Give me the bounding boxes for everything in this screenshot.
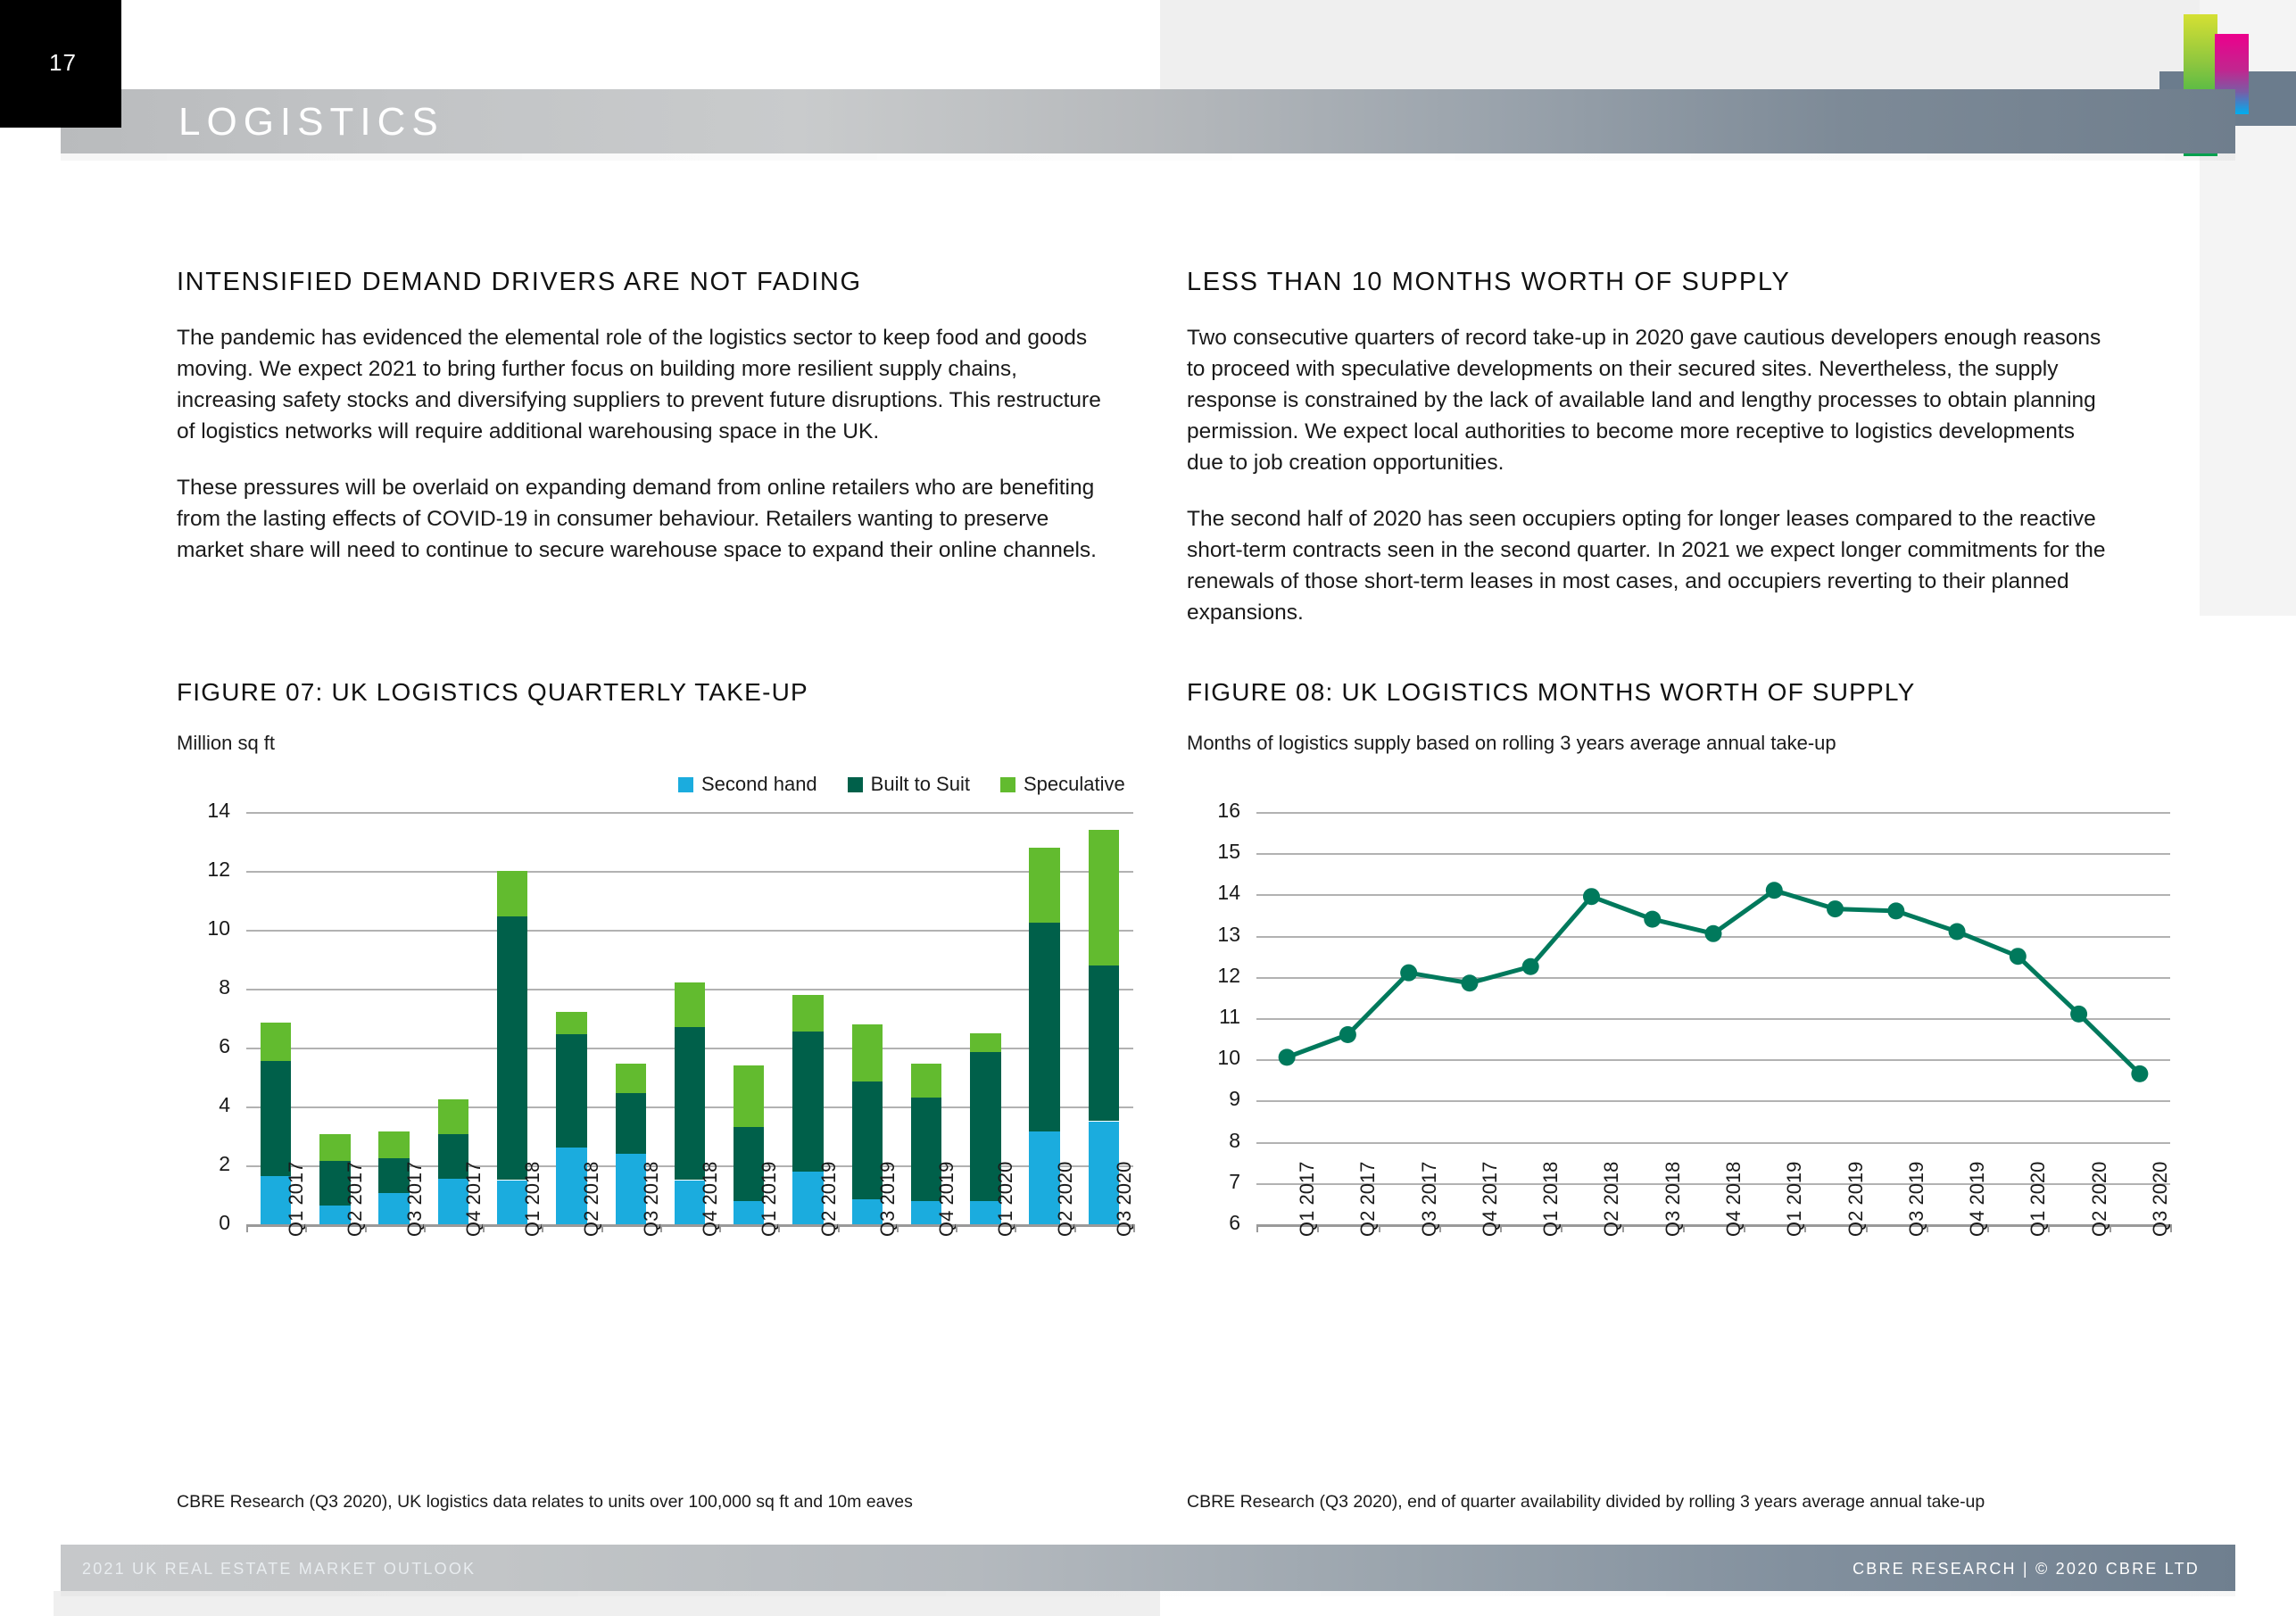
- line-series: [1187, 803, 2177, 1374]
- x-axis-tick: [1622, 1224, 1624, 1232]
- y-axis-tick-label: 14: [177, 799, 230, 823]
- data-point-marker: [1827, 900, 1844, 917]
- x-axis-label: Q2 2018: [580, 1162, 603, 1237]
- bar-segment: [497, 916, 527, 1180]
- bar-segment: [792, 995, 823, 1032]
- x-axis-tick: [542, 1224, 543, 1232]
- x-axis-tick: [1317, 1224, 1319, 1232]
- figure-08-subtitle: Months of logistics supply based on roll…: [1187, 732, 2168, 755]
- data-point-marker: [1705, 925, 1722, 942]
- x-axis-label: Q3 2019: [1905, 1162, 1928, 1237]
- bar-segment: [497, 871, 527, 916]
- figure-08-block: FIGURE 08: UK LOGISTICS MONTHS WORTH OF …: [1187, 678, 2168, 764]
- x-axis-tick: [956, 1224, 957, 1232]
- bar-segment: [852, 1024, 883, 1081]
- bar-segment: [378, 1131, 409, 1158]
- bar-segment: [1089, 830, 1119, 965]
- data-point-marker: [1887, 902, 1904, 919]
- bar-segment: [616, 1064, 646, 1093]
- x-axis-label: Q2 2020: [2088, 1162, 2111, 1237]
- data-point-marker: [2131, 1065, 2148, 1082]
- figure-07-chart: 02468101214Q1 2017Q2 2017Q3 2017Q4 2017Q…: [177, 803, 1140, 1374]
- x-axis-tick: [897, 1224, 899, 1232]
- legend-item-speculative: Speculative: [1000, 773, 1125, 796]
- data-point-marker: [1766, 882, 1783, 899]
- legend-item-built-to-suit: Built to Suit: [848, 773, 970, 796]
- x-axis-tick: [719, 1224, 721, 1232]
- legend-swatch-built-to-suit-icon: [848, 777, 863, 792]
- x-axis-label: Q4 2017: [1479, 1162, 1502, 1237]
- x-axis-label: Q4 2017: [462, 1162, 485, 1237]
- bar-segment: [319, 1134, 350, 1161]
- bar-segment: [261, 1023, 291, 1061]
- x-axis-tick: [838, 1224, 840, 1232]
- data-point-marker: [2070, 1006, 2087, 1023]
- x-axis-label: Q1 2020: [994, 1162, 1017, 1237]
- x-axis-label: Q1 2018: [1539, 1162, 1562, 1237]
- right-column-heading: LESS THAN 10 MONTHS WORTH OF SUPPLY: [1187, 268, 2115, 297]
- page-number: 17: [49, 49, 77, 77]
- x-axis-tick: [1866, 1224, 1868, 1232]
- top-right-grey-panel: [1160, 0, 2296, 101]
- x-axis-label: Q4 2019: [1966, 1162, 1989, 1237]
- figure-08-chart: 678910111213141516Q1 2017Q2 2017Q3 2017Q…: [1187, 803, 2177, 1374]
- figure-07-legend: Second hand Built to Suit Speculative: [678, 773, 1125, 796]
- x-axis-label: Q3 2018: [640, 1162, 663, 1237]
- y-axis-tick-label: 4: [177, 1093, 230, 1117]
- section-header-shadow: [61, 153, 2235, 161]
- legend-item-second-hand: Second hand: [678, 773, 817, 796]
- data-point-marker: [1400, 965, 1417, 982]
- bar-segment: [675, 1027, 705, 1181]
- y-axis-tick-label: 10: [177, 916, 230, 941]
- data-point-marker: [2010, 948, 2027, 965]
- bar-segment: [261, 1061, 291, 1176]
- page-footer: 2021 UK REAL ESTATE MARKET OUTLOOK CBRE …: [61, 1545, 2235, 1591]
- x-axis-label: Q3 2017: [403, 1162, 427, 1237]
- figure-07-title: FIGURE 07: UK LOGISTICS QUARTERLY TAKE-U…: [177, 678, 1158, 707]
- x-axis-label: Q1 2020: [2027, 1162, 2050, 1237]
- x-axis-tick: [1683, 1224, 1685, 1232]
- left-column: INTENSIFIED DEMAND DRIVERS ARE NOT FADIN…: [177, 268, 1105, 591]
- left-column-heading: INTENSIFIED DEMAND DRIVERS ARE NOT FADIN…: [177, 268, 1105, 297]
- bar-segment: [1029, 923, 1059, 1131]
- y-axis-tick-label: 2: [177, 1152, 230, 1176]
- gridline: [246, 871, 1133, 873]
- x-axis-tick: [1561, 1224, 1562, 1232]
- data-point-marker: [1339, 1026, 1356, 1043]
- bar-segment: [1029, 848, 1059, 923]
- bar-segment: [792, 1032, 823, 1172]
- x-axis-tick: [1987, 1224, 1989, 1232]
- x-axis-label: Q3 2019: [876, 1162, 899, 1237]
- y-axis-tick-label: 0: [177, 1211, 230, 1235]
- x-axis-label: Q1 2019: [1783, 1162, 1806, 1237]
- figure-07-subtitle: Million sq ft: [177, 732, 1158, 755]
- figure-08-title: FIGURE 08: UK LOGISTICS MONTHS WORTH OF …: [1187, 678, 2168, 707]
- left-column-paragraph-1: The pandemic has evidenced the elemental…: [177, 322, 1105, 447]
- x-axis-label: Q3 2020: [2149, 1162, 2172, 1237]
- right-column: LESS THAN 10 MONTHS WORTH OF SUPPLY Two …: [1187, 268, 2115, 653]
- legend-label-built-to-suit: Built to Suit: [871, 773, 970, 796]
- footer-left-label: 2021 UK REAL ESTATE MARKET OUTLOOK: [82, 1560, 476, 1579]
- x-axis-label: Q3 2018: [1662, 1162, 1685, 1237]
- x-axis-tick: [1804, 1224, 1806, 1232]
- figure-07-source: CBRE Research (Q3 2020), UK logistics da…: [177, 1492, 1149, 1512]
- data-point-marker: [1644, 911, 1661, 928]
- x-axis-tick: [1133, 1224, 1135, 1232]
- bar-segment: [556, 1034, 586, 1148]
- x-axis-tick: [1439, 1224, 1441, 1232]
- legend-swatch-speculative-icon: [1000, 777, 1015, 792]
- x-axis-label: Q2 2017: [1356, 1162, 1380, 1237]
- legend-swatch-second-hand-icon: [678, 777, 693, 792]
- x-axis-label: Q3 2020: [1113, 1162, 1136, 1237]
- y-axis-tick-label: 8: [177, 975, 230, 999]
- x-axis-label: Q1 2019: [758, 1162, 781, 1237]
- x-axis-tick: [1379, 1224, 1380, 1232]
- x-axis-label: Q4 2018: [1722, 1162, 1745, 1237]
- bar-segment: [734, 1065, 764, 1127]
- bar-segment: [556, 1012, 586, 1034]
- bar-segment: [438, 1099, 468, 1135]
- footer-right-label: CBRE RESEARCH | © 2020 CBRE LTD: [1853, 1560, 2200, 1579]
- document-page: LOGISTICS 17 INTENSIFIED DEMAND DRIVERS …: [0, 0, 2296, 1616]
- x-axis-label: Q1 2017: [285, 1162, 308, 1237]
- y-axis-tick-label: 12: [177, 858, 230, 882]
- x-axis-label: Q2 2017: [344, 1162, 367, 1237]
- x-axis-tick: [305, 1224, 307, 1232]
- x-axis-tick: [424, 1224, 426, 1232]
- x-axis-label: Q1 2017: [1296, 1162, 1319, 1237]
- x-axis-tick: [1500, 1224, 1502, 1232]
- left-column-paragraph-2: These pressures will be overlaid on expa…: [177, 472, 1105, 566]
- figure-07-block: FIGURE 07: UK LOGISTICS QUARTERLY TAKE-U…: [177, 678, 1158, 764]
- right-column-paragraph-1: Two consecutive quarters of record take-…: [1187, 322, 2115, 478]
- data-point-marker: [1583, 888, 1600, 905]
- x-axis-tick: [1744, 1224, 1745, 1232]
- footer-shadow: [61, 1591, 2235, 1596]
- x-axis-tick: [1074, 1224, 1076, 1232]
- x-axis-label: Q2 2019: [817, 1162, 841, 1237]
- x-axis-tick: [483, 1224, 485, 1232]
- x-axis-tick: [365, 1224, 367, 1232]
- x-axis-tick: [1256, 1224, 1258, 1232]
- y-axis-tick-label: 6: [177, 1034, 230, 1058]
- bar-segment: [911, 1064, 941, 1098]
- bar-segment: [616, 1093, 646, 1154]
- legend-label-second-hand: Second hand: [701, 773, 817, 796]
- x-axis-tick: [778, 1224, 780, 1232]
- x-axis-label: Q2 2018: [1600, 1162, 1623, 1237]
- data-point-marker: [1949, 923, 1966, 940]
- right-column-paragraph-2: The second half of 2020 has seen occupie…: [1187, 503, 2115, 628]
- x-axis-tick: [1015, 1224, 1016, 1232]
- bar-segment: [970, 1033, 1000, 1052]
- gridline: [246, 930, 1133, 932]
- bar-segment: [1089, 965, 1119, 1122]
- x-axis-tick: [660, 1224, 662, 1232]
- x-axis-label: Q2 2020: [1054, 1162, 1077, 1237]
- data-point-marker: [1522, 958, 1539, 975]
- x-axis-tick: [601, 1224, 603, 1232]
- x-axis-tick: [2110, 1224, 2111, 1232]
- x-axis-tick: [1927, 1224, 1928, 1232]
- data-point-marker: [1279, 1048, 1296, 1065]
- legend-label-speculative: Speculative: [1024, 773, 1125, 796]
- page-title: LOGISTICS: [178, 100, 444, 145]
- x-axis-tick: [2170, 1224, 2172, 1232]
- x-axis-label: Q3 2017: [1418, 1162, 1441, 1237]
- figure-08-source: CBRE Research (Q3 2020), end of quarter …: [1187, 1492, 2159, 1512]
- x-axis-tick: [246, 1224, 248, 1232]
- x-axis-tick: [2048, 1224, 2050, 1232]
- gridline: [246, 812, 1133, 814]
- bar-segment: [675, 982, 705, 1027]
- x-axis-label: Q4 2019: [935, 1162, 958, 1237]
- data-point-marker: [1461, 974, 1478, 991]
- x-axis-label: Q1 2018: [521, 1162, 544, 1237]
- x-axis-label: Q4 2018: [699, 1162, 722, 1237]
- x-axis-label: Q2 2019: [1844, 1162, 1868, 1237]
